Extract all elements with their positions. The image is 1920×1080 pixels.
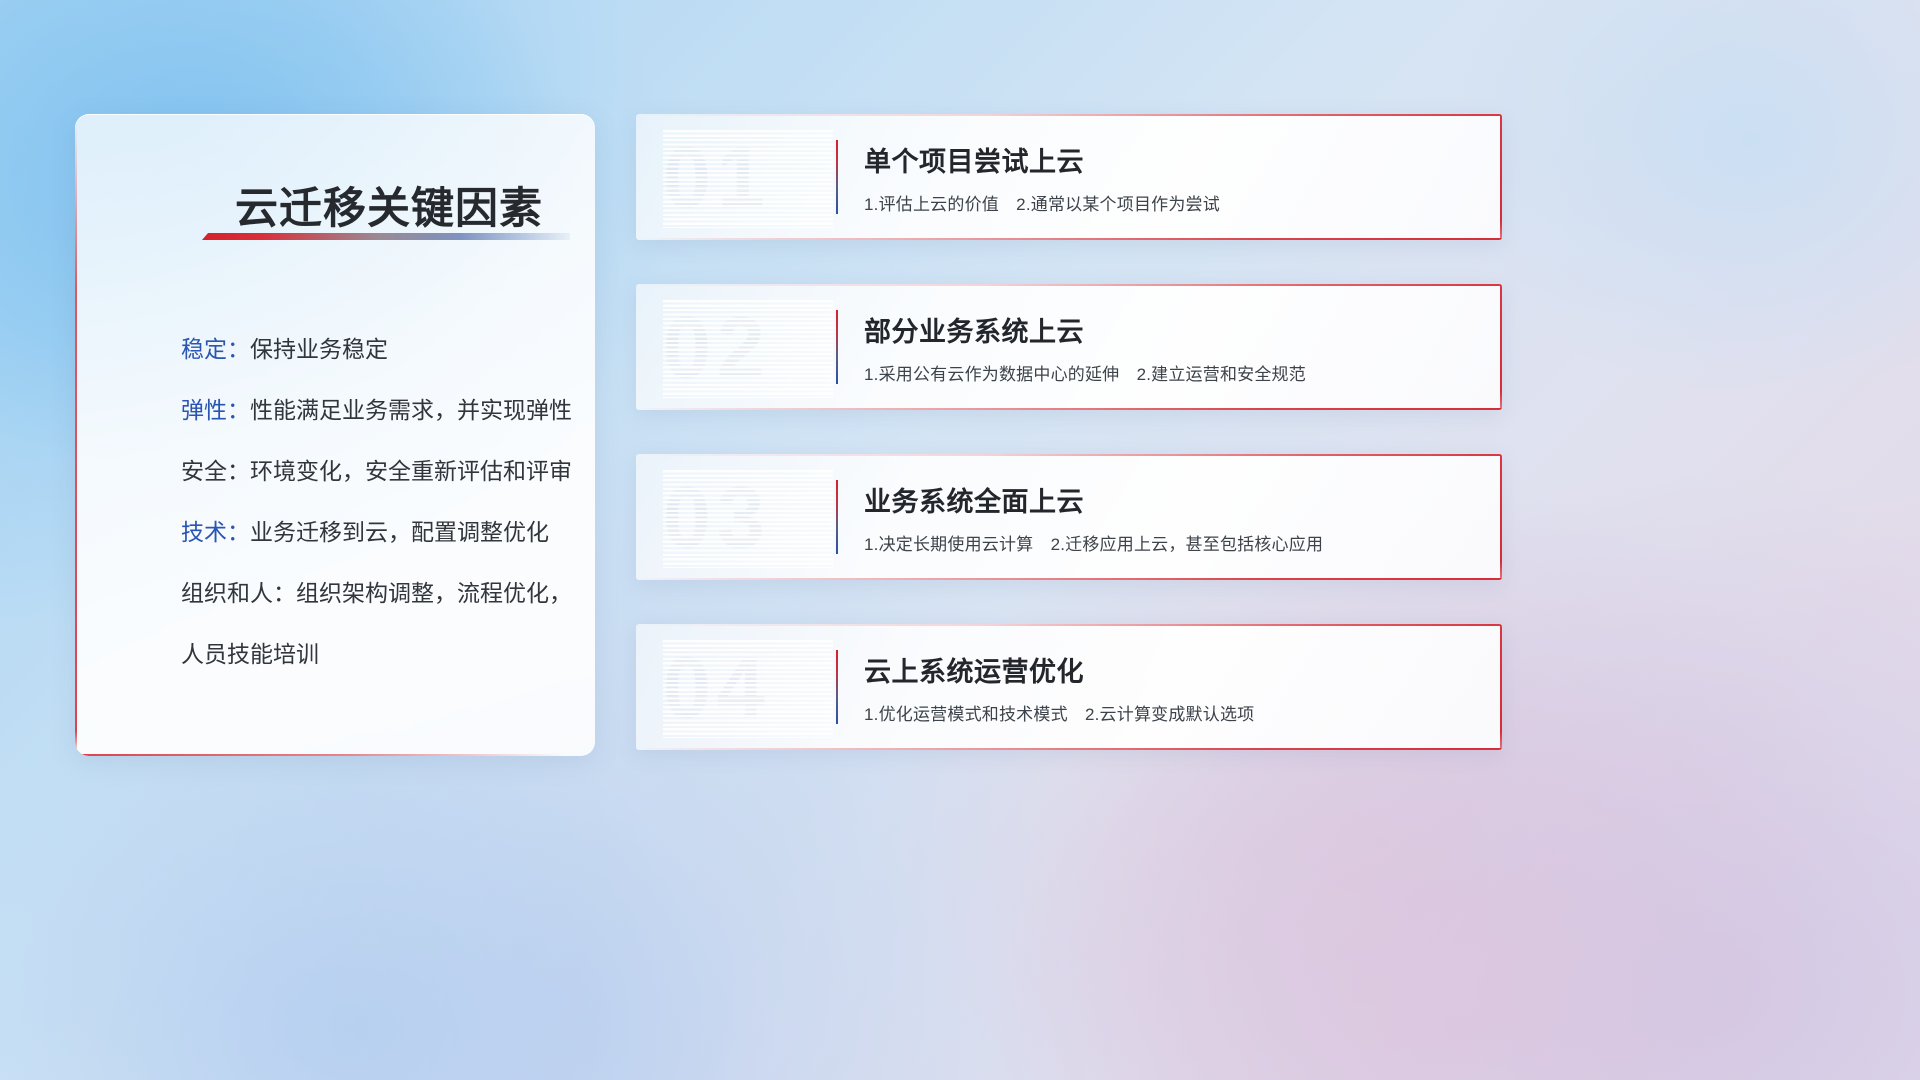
stage-number: 04 xyxy=(663,638,833,738)
factor-label: 组织和人： xyxy=(181,580,296,606)
stage-card[interactable]: 02部分业务系统上云1.采用公有云作为数据中心的延伸 2.建立运营和安全规范 xyxy=(636,284,1502,410)
card-heading: 单个项目尝试上云 xyxy=(864,140,1084,179)
card-accent-divider xyxy=(836,310,838,384)
card-description: 1.评估上云的价值 2.通常以某个项目作为尝试 xyxy=(864,190,1220,215)
factor-value: 性能满足业务需求，并实现弹性 xyxy=(250,397,572,423)
page-title: 云迁移关键因素 xyxy=(235,174,543,236)
factor-label: 安全： xyxy=(181,458,250,484)
factor-line: 技术：业务迁移到云，配置调整优化 xyxy=(181,502,581,563)
factor-line: 组织和人：组织架构调整，流程优化， xyxy=(181,563,581,624)
factor-line: 稳定：保持业务稳定 xyxy=(181,319,581,380)
background-bloom-top-right xyxy=(1440,0,1920,400)
card-accent-divider xyxy=(836,140,838,214)
title-underline-rule xyxy=(202,233,570,240)
stage-number: 02 xyxy=(663,298,833,398)
factor-label: 稳定： xyxy=(181,336,250,362)
card-description: 1.决定长期使用云计算 2.迁移应用上云，甚至包括核心应用 xyxy=(864,530,1323,555)
stage-number: 03 xyxy=(663,468,833,568)
factor-line: 人员技能培训 xyxy=(181,624,581,685)
factor-value: 保持业务稳定 xyxy=(250,336,388,362)
slide-canvas: 云迁移关键因素 稳定：保持业务稳定弹性：性能满足业务需求，并实现弹性安全：环境变… xyxy=(0,0,1920,1080)
card-accent-divider xyxy=(836,480,838,554)
factor-label: 技术： xyxy=(181,519,250,545)
factor-label: 弹性： xyxy=(181,397,250,423)
card-top-rule xyxy=(636,114,1502,116)
stage-card[interactable]: 03业务系统全面上云1.决定长期使用云计算 2.迁移应用上云，甚至包括核心应用 xyxy=(636,454,1502,580)
factor-line: 安全：环境变化，安全重新评估和评审 xyxy=(181,441,581,502)
stage-card-list: 01单个项目尝试上云1.评估上云的价值 2.通常以某个项目作为尝试02部分业务系… xyxy=(636,114,1502,794)
card-accent-divider xyxy=(836,650,838,724)
factor-list: 稳定：保持业务稳定弹性：性能满足业务需求，并实现弹性安全：环境变化，安全重新评估… xyxy=(181,319,581,685)
factor-value: 环境变化，安全重新评估和评审 xyxy=(250,458,572,484)
key-factors-panel: 云迁移关键因素 稳定：保持业务稳定弹性：性能满足业务需求，并实现弹性安全：环境变… xyxy=(75,114,595,756)
stage-card[interactable]: 01单个项目尝试上云1.评估上云的价值 2.通常以某个项目作为尝试 xyxy=(636,114,1502,240)
card-heading: 部分业务系统上云 xyxy=(864,310,1084,349)
card-description: 1.采用公有云作为数据中心的延伸 2.建立运营和安全规范 xyxy=(864,360,1306,385)
factor-value: 业务迁移到云，配置调整优化 xyxy=(250,519,549,545)
factor-value: 人员技能培训 xyxy=(181,641,319,667)
card-heading: 业务系统全面上云 xyxy=(864,480,1084,519)
factor-line: 弹性：性能满足业务需求，并实现弹性 xyxy=(181,380,581,441)
card-description: 1.优化运营模式和技术模式 2.云计算变成默认选项 xyxy=(864,700,1254,725)
card-top-rule xyxy=(636,454,1502,456)
factor-value: 组织架构调整，流程优化， xyxy=(296,580,572,606)
card-top-rule xyxy=(636,624,1502,626)
card-heading: 云上系统运营优化 xyxy=(864,650,1084,689)
card-top-rule xyxy=(636,284,1502,286)
stage-card[interactable]: 04云上系统运营优化1.优化运营模式和技术模式 2.云计算变成默认选项 xyxy=(636,624,1502,750)
stage-number: 01 xyxy=(663,128,833,228)
